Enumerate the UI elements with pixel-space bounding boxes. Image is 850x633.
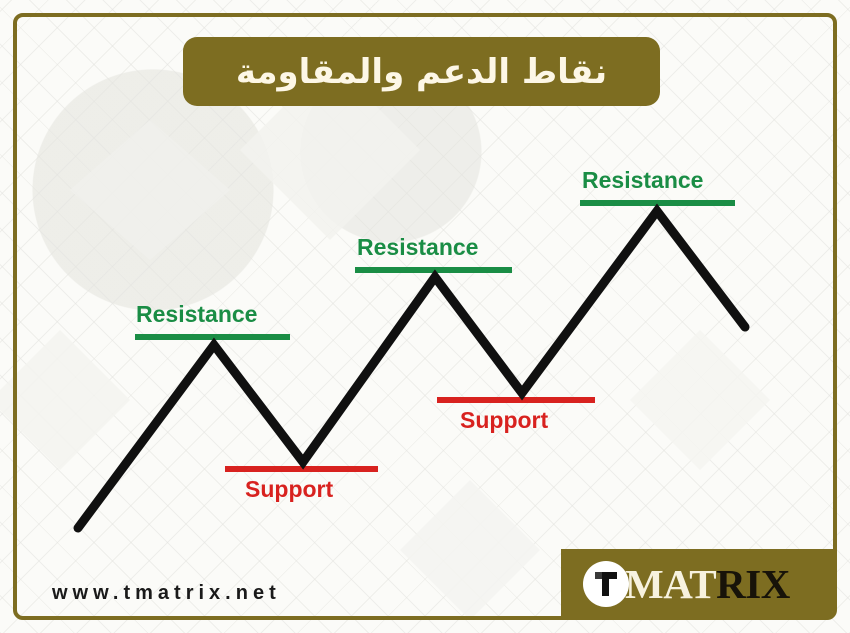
level-label-resistance-3: Resistance <box>582 167 703 194</box>
level-label-resistance-1: Resistance <box>136 301 257 328</box>
level-label-support-2: Support <box>460 407 548 434</box>
site-url-text: www.tmatrix.net <box>52 582 281 605</box>
support-resistance-chart: ResistanceSupportResistanceSupportResist… <box>0 0 850 633</box>
level-label-support-1: Support <box>245 476 333 503</box>
brand-logo-box[interactable]: MATRIX <box>561 549 833 619</box>
brand-wordmark-mat: MAT <box>625 561 716 607</box>
brand-wordmark: MATRIX <box>625 564 790 605</box>
chart-svg-canvas <box>0 0 850 633</box>
brand-wordmark-rix: RIX <box>716 561 790 607</box>
infographic-canvas: نقاط الدعم والمقاومة ResistanceSupportRe… <box>0 0 850 633</box>
level-label-resistance-2: Resistance <box>357 234 478 261</box>
tmatrix-circle-t-icon <box>583 561 629 607</box>
